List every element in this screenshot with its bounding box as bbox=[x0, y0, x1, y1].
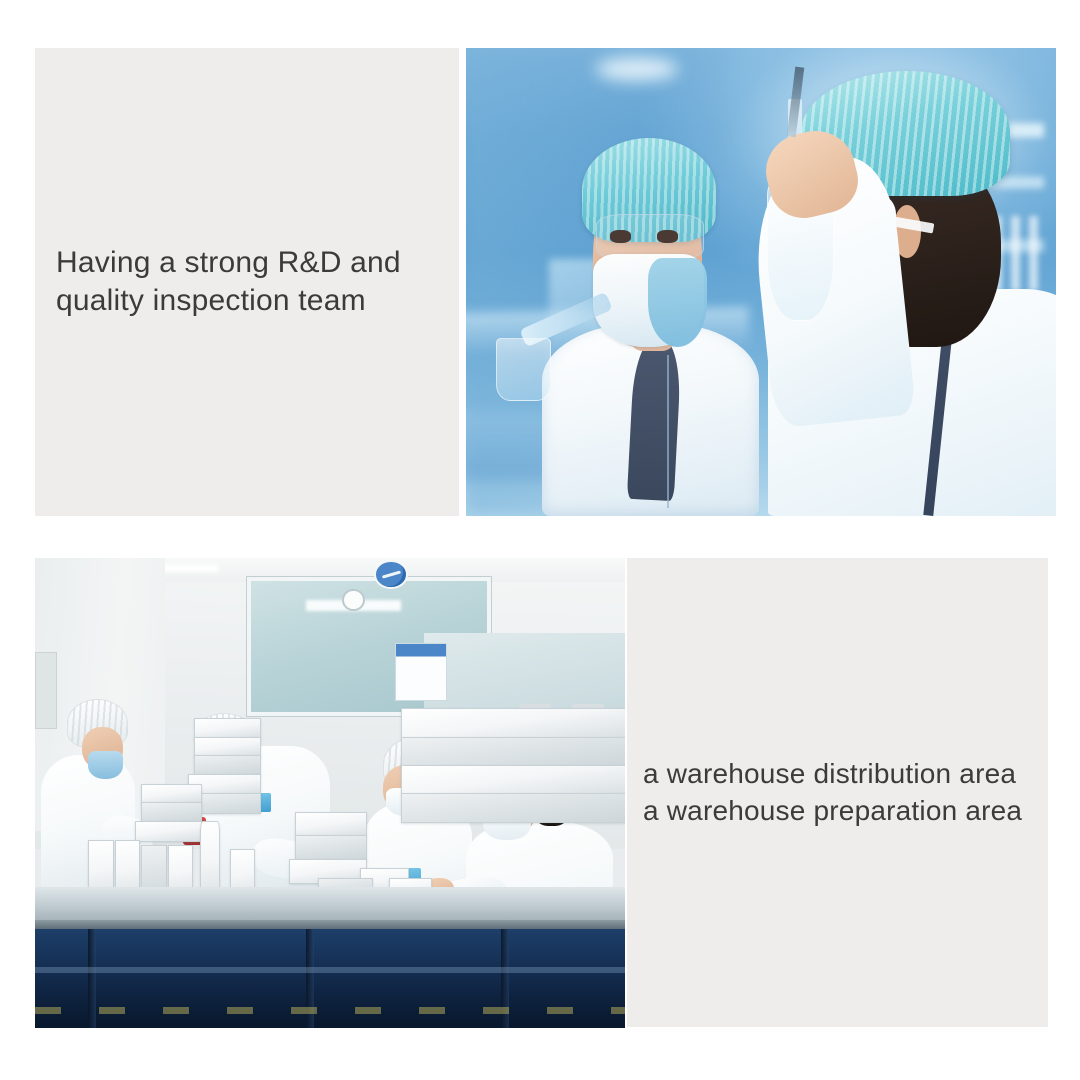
carton-stack-a-2 bbox=[194, 737, 261, 758]
caption-text-rnd: Having a strong R&D and quality inspecti… bbox=[56, 244, 401, 321]
lab-eye-left bbox=[610, 230, 631, 243]
carton-wall-right-2 bbox=[401, 737, 625, 767]
warehouse-table-rail bbox=[35, 967, 625, 974]
warehouse-scene bbox=[35, 558, 625, 1028]
carton-stack-c-2 bbox=[295, 835, 368, 861]
carton-wall-right-4 bbox=[401, 793, 625, 823]
carton-stack-b-3 bbox=[135, 821, 202, 842]
section-rnd-quality: Having a strong R&D and quality inspecti… bbox=[0, 0, 1080, 530]
caption-panel-rnd: Having a strong R&D and quality inspecti… bbox=[35, 48, 459, 516]
warehouse-wall-frame bbox=[35, 652, 57, 729]
carton-stack-a-1 bbox=[194, 718, 261, 739]
lab-eye-right bbox=[657, 230, 678, 243]
carton-stack-b-2 bbox=[141, 802, 202, 823]
lab-ceiling-lamp bbox=[596, 57, 679, 80]
warehouse-worker-1-mask bbox=[88, 751, 123, 779]
carton-wall-right-3 bbox=[401, 765, 625, 795]
carton-wall-right-1 bbox=[401, 708, 625, 738]
section-warehouse: a warehouse distribution area a warehous… bbox=[0, 530, 1080, 1080]
lab-scene bbox=[466, 48, 1056, 516]
carton-stack-a-3 bbox=[194, 755, 261, 776]
caption-text-warehouse: a warehouse distribution area a warehous… bbox=[643, 756, 1022, 829]
photo-warehouse-packing bbox=[35, 558, 625, 1028]
carton-stack-b-1 bbox=[141, 784, 202, 805]
lab-coat-seam-front bbox=[667, 355, 669, 508]
carton-stack-c-1 bbox=[295, 812, 368, 838]
warehouse-notice-board bbox=[395, 643, 447, 701]
photo-rnd-quality-team bbox=[466, 48, 1056, 516]
lab-beaker bbox=[496, 338, 551, 401]
caption-panel-warehouse: a warehouse distribution area a warehous… bbox=[627, 558, 1048, 1027]
warehouse-table-edge bbox=[35, 920, 625, 929]
lab-facemask-front-blue bbox=[648, 258, 707, 347]
banner-page: Having a strong R&D and quality inspecti… bbox=[0, 0, 1080, 1080]
warehouse-wall-clock bbox=[342, 589, 365, 612]
warehouse-wall-sign-icon bbox=[374, 560, 408, 588]
warehouse-floor-marking bbox=[35, 1007, 625, 1015]
